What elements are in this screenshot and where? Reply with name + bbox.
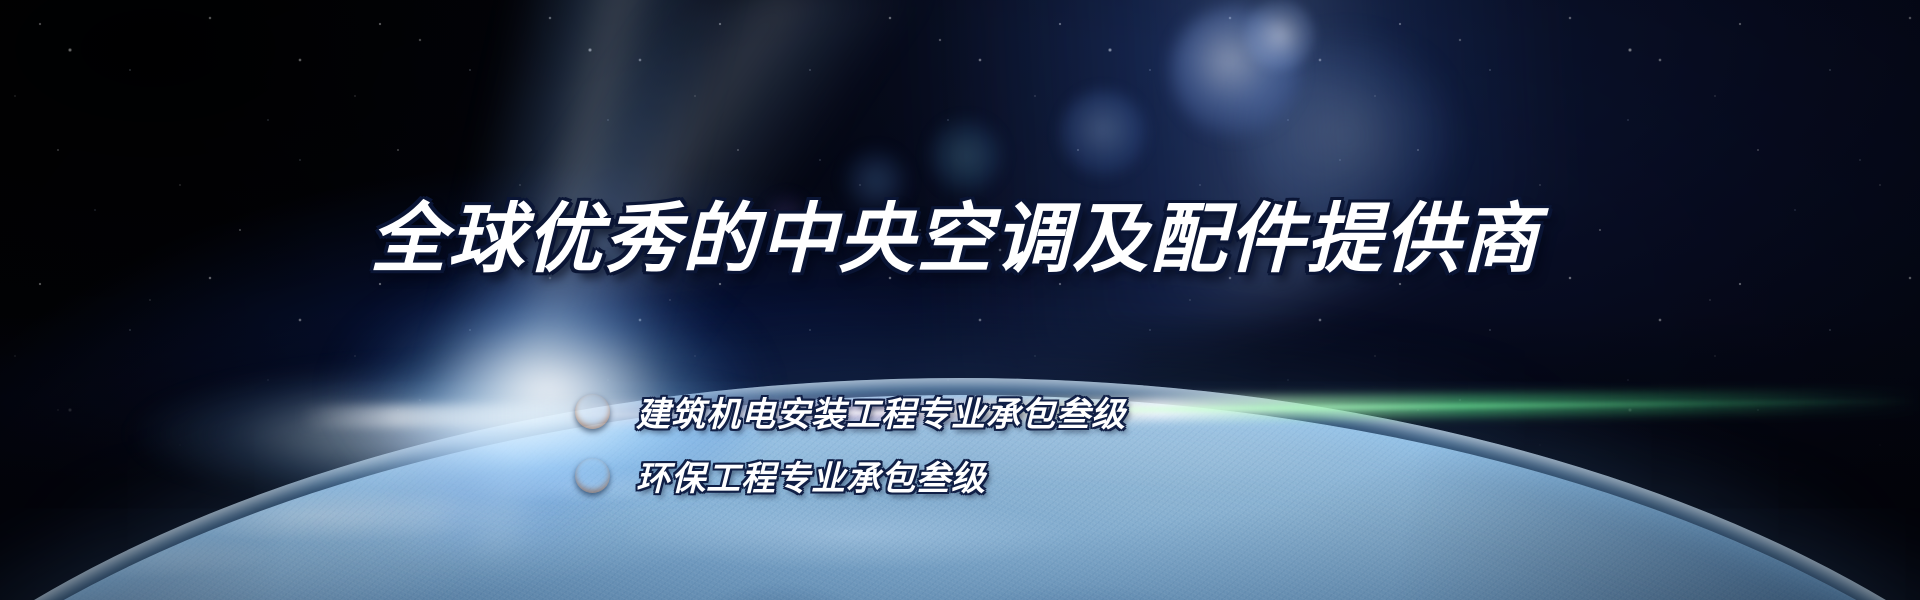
vignette-overlay [0,0,1920,600]
hero-banner: 全球优秀的中央空调及配件提供商 建筑机电安装工程专业承包叁级 环保工程专业承包叁… [0,0,1920,600]
